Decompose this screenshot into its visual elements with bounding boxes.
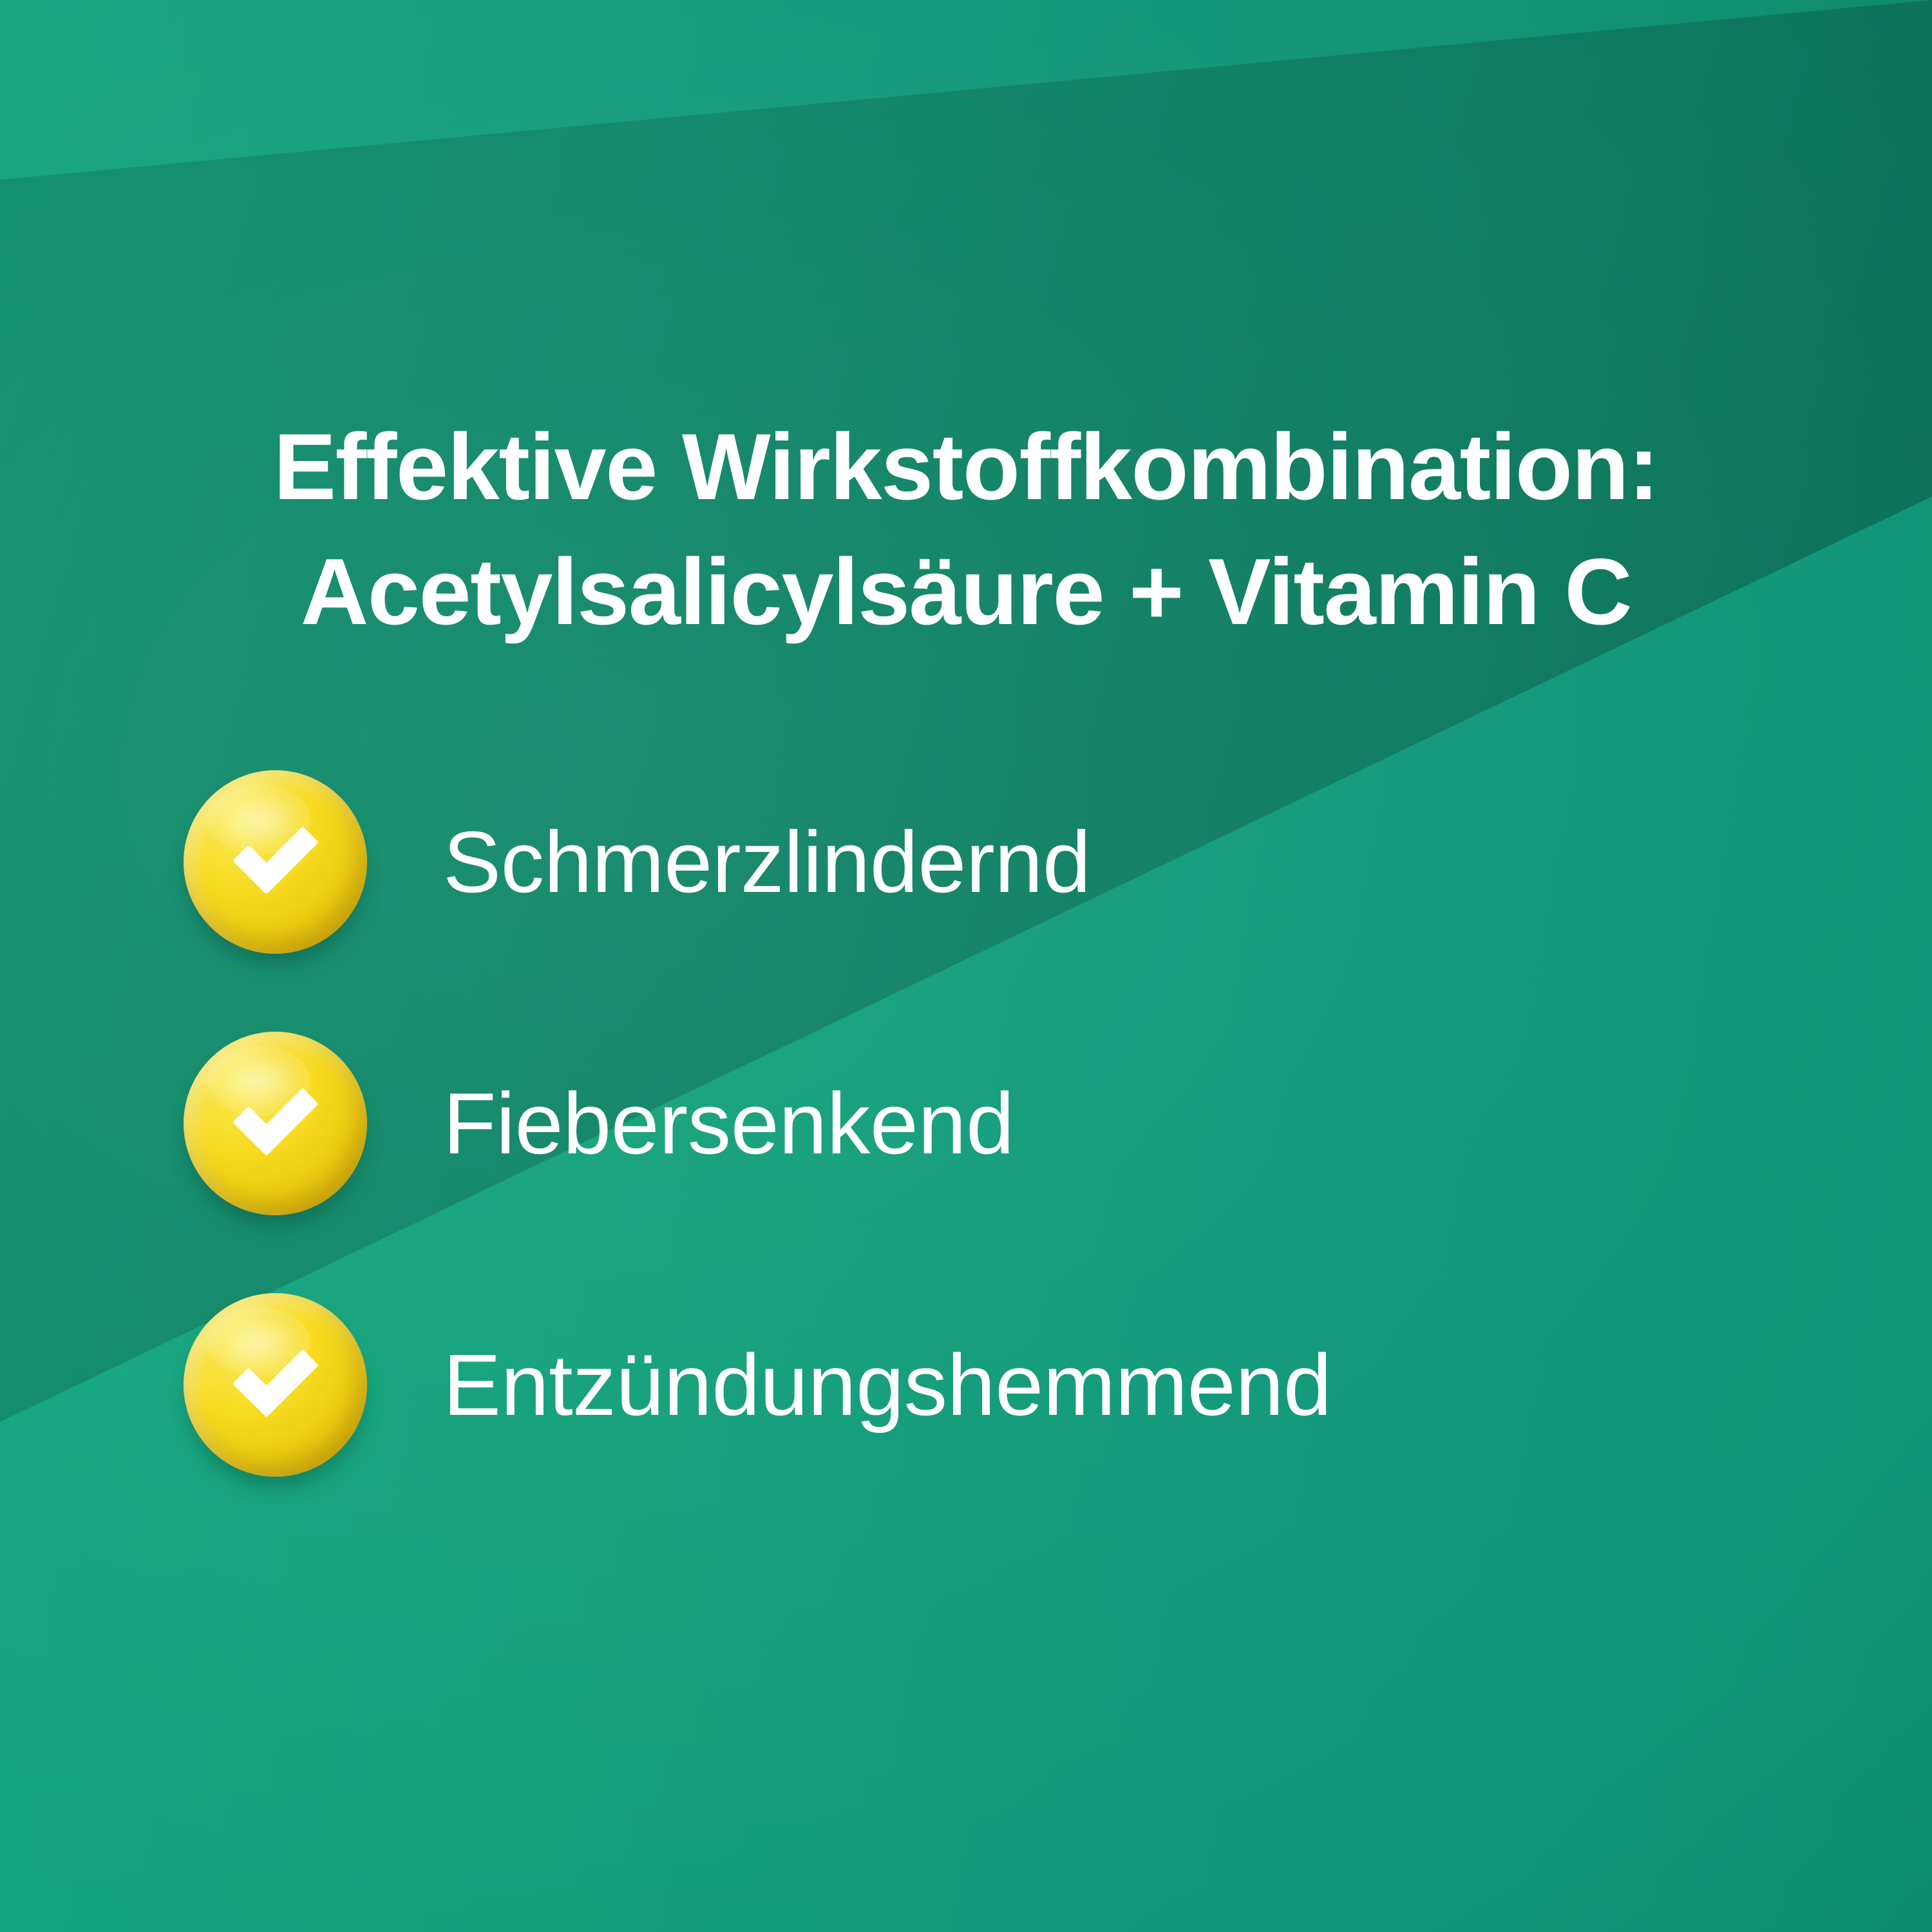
page-title: Effektive Wirkstoffkombination: Acetylsa… bbox=[0, 404, 1932, 654]
list-item-label: Schmerzlindernd bbox=[443, 819, 1090, 905]
list-item: Fiebersenkend bbox=[184, 1023, 1794, 1223]
promo-card: Effektive Wirkstoffkombination: Acetylsa… bbox=[0, 0, 1932, 1932]
feature-list: Schmerzlindernd Fiebersenkend Entzündung… bbox=[184, 762, 1794, 1484]
check-icon bbox=[184, 1293, 367, 1477]
check-icon bbox=[184, 770, 367, 954]
card-content: Effektive Wirkstoffkombination: Acetylsa… bbox=[0, 0, 1932, 1932]
list-item-label: Fiebersenkend bbox=[443, 1080, 1014, 1167]
list-item: Entzündungshemmend bbox=[184, 1285, 1794, 1484]
list-item-label: Entzündungshemmend bbox=[443, 1341, 1331, 1428]
check-icon bbox=[184, 1032, 367, 1215]
list-item: Schmerzlindernd bbox=[184, 762, 1794, 961]
